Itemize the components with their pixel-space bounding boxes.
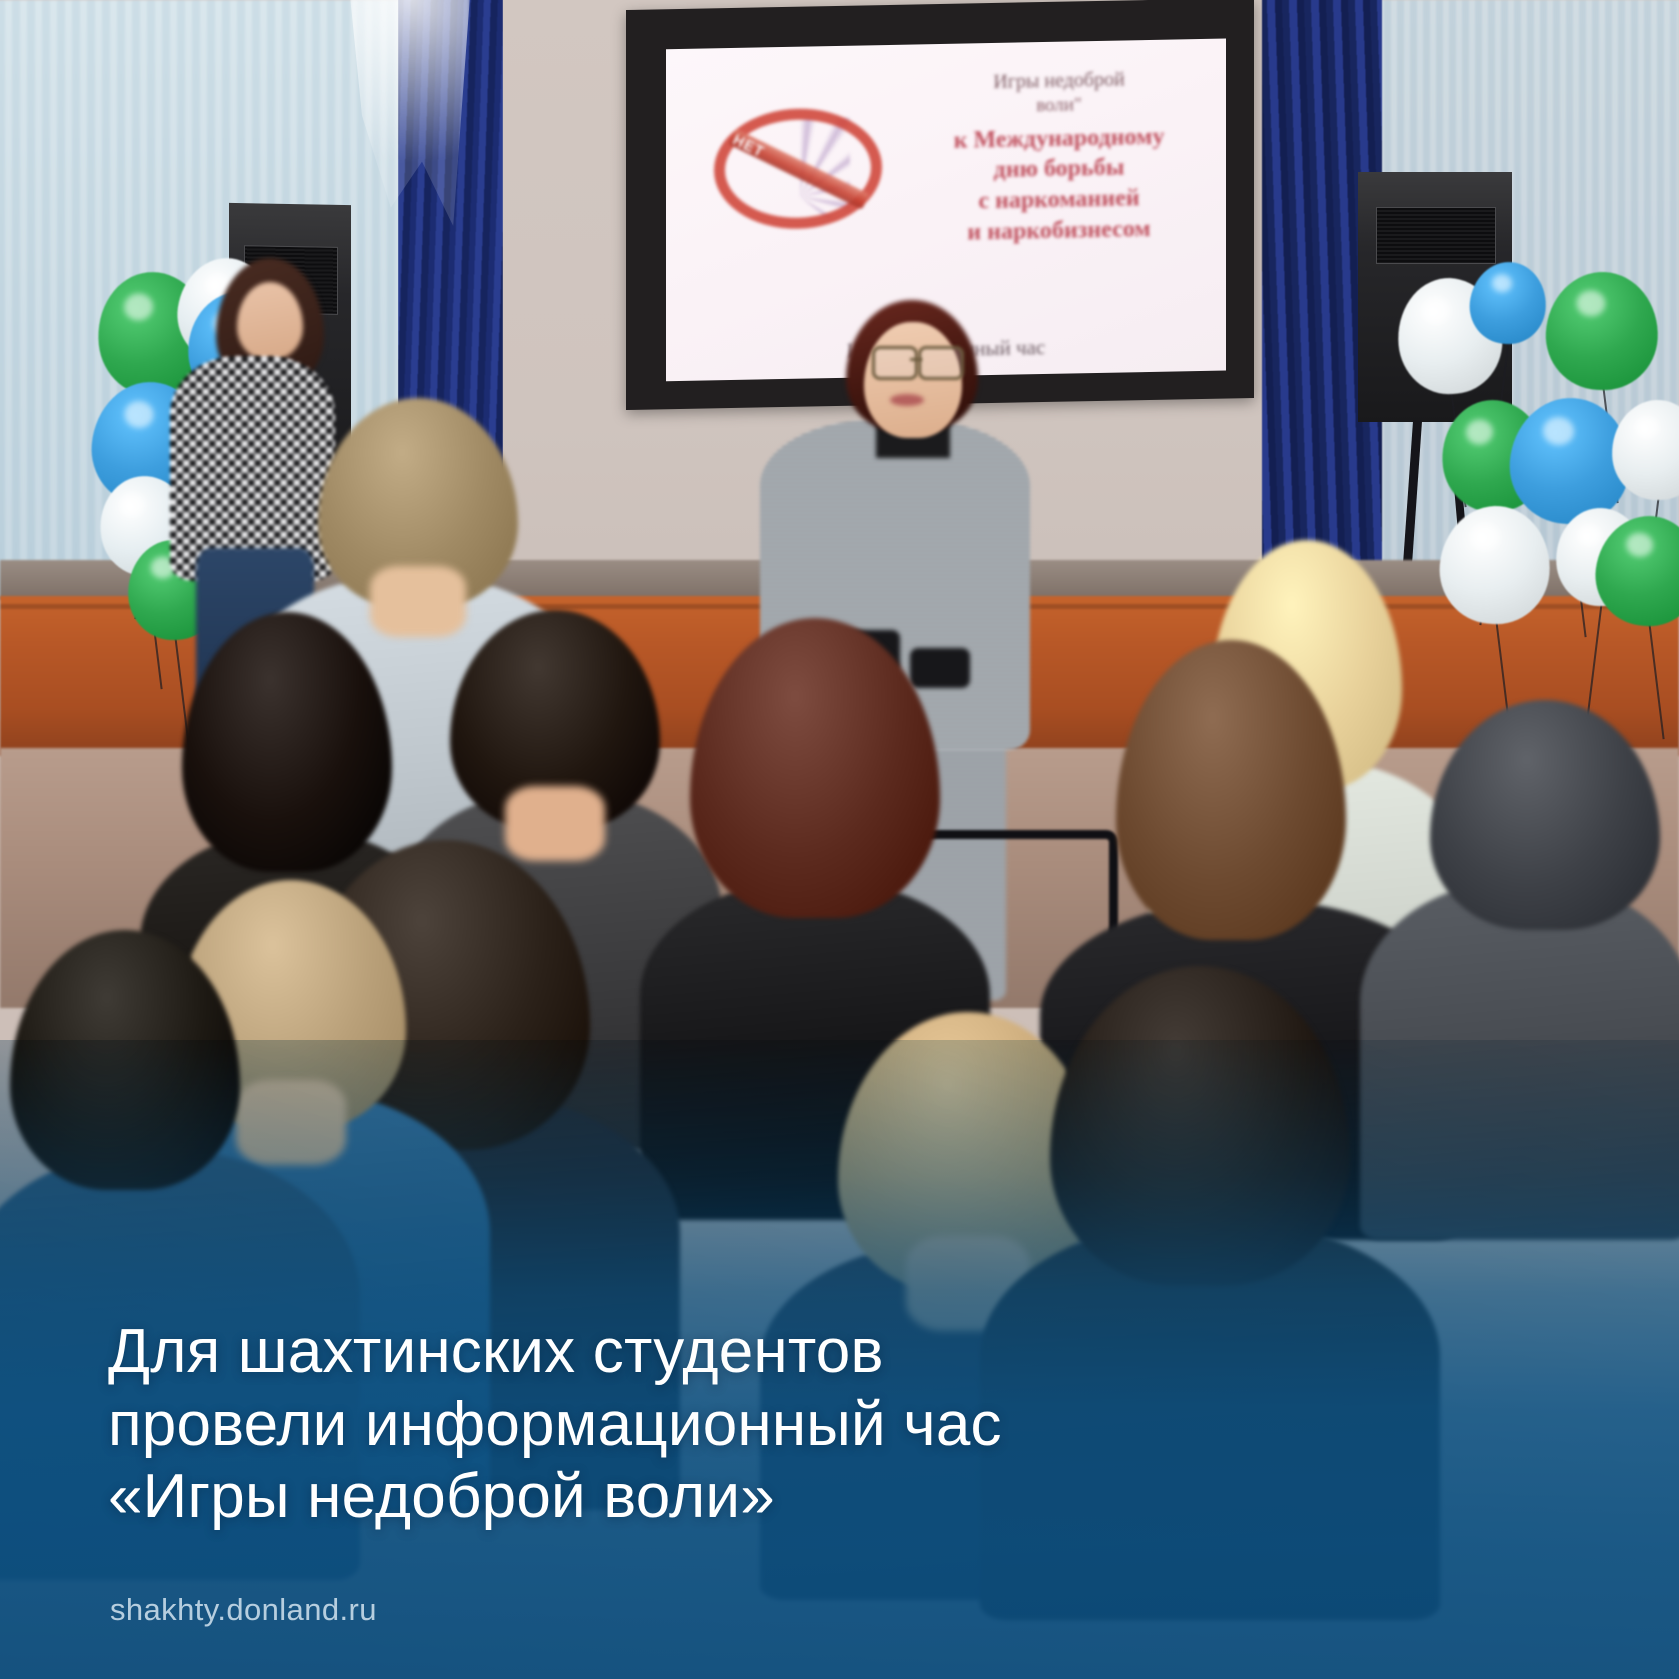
headline-line-1: Для шахтинских студентов xyxy=(108,1316,1428,1389)
speaker-mouth xyxy=(890,394,924,406)
student-grey-hoodie-right-body xyxy=(1360,880,1679,1240)
speaker-cuff-right xyxy=(910,648,970,688)
glasses-icon-left-lens xyxy=(872,346,918,380)
glasses-icon-right-lens xyxy=(918,346,964,380)
slide-title-block: Игры недоброй воли" к Международному дню… xyxy=(894,65,1224,250)
headline-line-3: «Игры недоброй воли» xyxy=(108,1461,1428,1534)
student-blond-foreground-left-neck xyxy=(236,1080,346,1165)
news-card: НЕТ Игры недоброй воли" к Международному… xyxy=(0,0,1679,1679)
headline-line-2: провели информационный час xyxy=(108,1389,1428,1462)
glasses-icon-bridge xyxy=(910,358,922,361)
speaker-face xyxy=(864,322,962,438)
no-drugs-icon: НЕТ xyxy=(704,93,894,247)
student-buzzcut-front-neck xyxy=(370,566,466,637)
slide-subtitle-line4: и наркобизнесом xyxy=(894,212,1224,249)
site-url[interactable]: shakhty.donland.ru xyxy=(110,1592,377,1628)
slide-title-line2: воли" xyxy=(894,91,1224,122)
student-dark-curly-center-neck xyxy=(505,786,606,861)
headline: Для шахтинских студентов провели информа… xyxy=(108,1316,1428,1534)
